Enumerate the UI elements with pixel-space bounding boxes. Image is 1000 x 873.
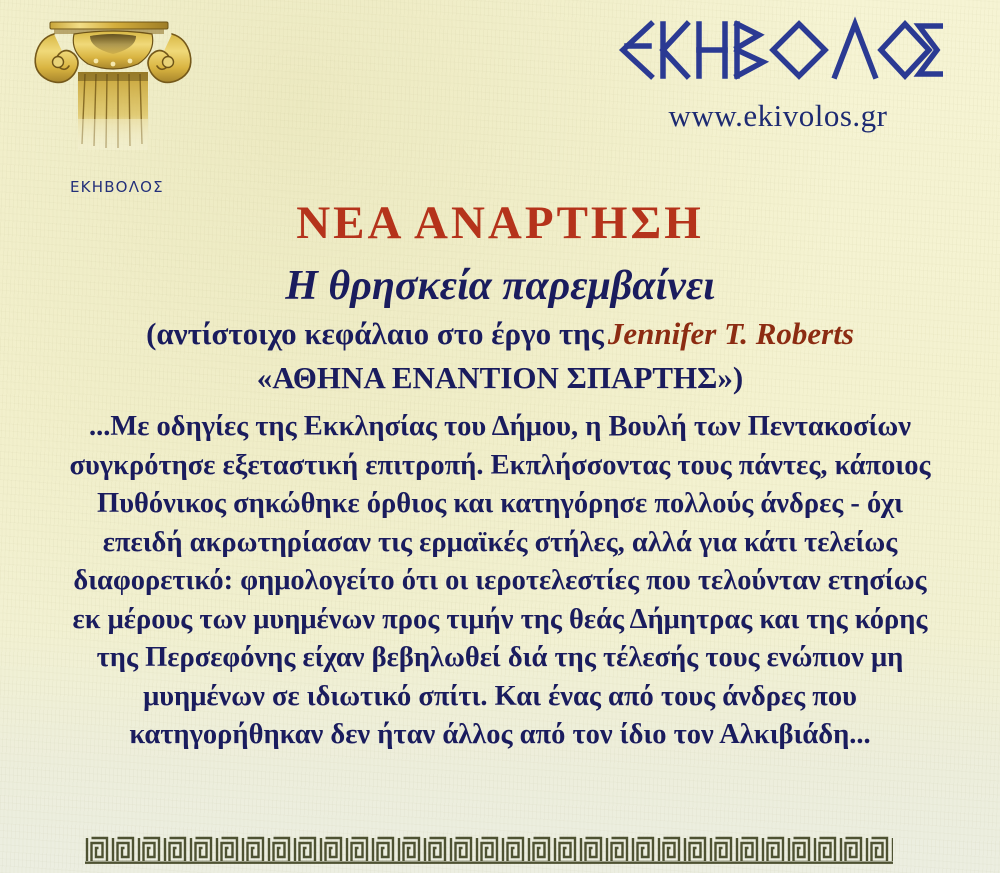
brand-wordmark-ekivolos [613,16,943,86]
ionic-column-capital-icon: ΕΚΗΒΟΛΟΣ [18,14,208,194]
page-subtitle: Η θρησκεία παρεμβαίνει [0,262,1000,310]
body-line: συγκρότησε εξεταστική επιτροπή. Εκπλήσσο… [40,447,960,486]
source-author: Jennifer T. Roberts [608,316,854,351]
body-line: Πυθόνικος σηκώθηκε όρθιος και κατηγόρησε… [40,485,960,524]
body-line: εκ μέρους των μυημένων προς τιμήν της θε… [40,601,960,640]
greek-meander-border [85,835,893,865]
source-reference-line-1: (αντίστοιχο κεφάλαιο στο έργο τηςJennife… [0,316,1000,352]
body-line: ...Με οδηγίες της Εκκλησίας του Δήμου, η… [40,408,960,447]
body-line: μυημένων σε ιδιωτικό σπίτι. Και ένας από… [40,678,960,717]
body-line: διαφορετικό: φημολογείτο ότι οι ιεροτελε… [40,562,960,601]
body-paragraph: ...Με οδηγίες της Εκκλησίας του Δήμου, η… [40,408,960,755]
brand-logo[interactable]: www.ekivolos.gr [598,16,958,134]
column-logo-caption: ΕΚΗΒΟΛΟΣ [70,178,164,196]
body-line: της Περσεφόνης είχαν βεβηλωθεί διά της τ… [40,639,960,678]
poster-canvas: ΕΚΗΒΟΛΟΣ [0,0,1000,873]
brand-url[interactable]: www.ekivolos.gr [598,98,958,134]
page-title: ΝΕΑ ΑΝΑΡΤΗΣΗ [0,196,1000,250]
body-line: κατηγορήθηκαν δεν ήταν άλλος από τον ίδι… [40,716,960,755]
source-reference-line-2: «ΑΘΗΝΑ ΕΝΑΝΤΙΟΝ ΣΠΑΡΤΗΣ») [0,360,1000,396]
source-prefix: (αντίστοιχο κεφάλαιο στο έργο της [146,316,604,351]
body-line: επειδή ακρωτηρίασαν τις ερμαϊκές στήλες,… [40,524,960,563]
